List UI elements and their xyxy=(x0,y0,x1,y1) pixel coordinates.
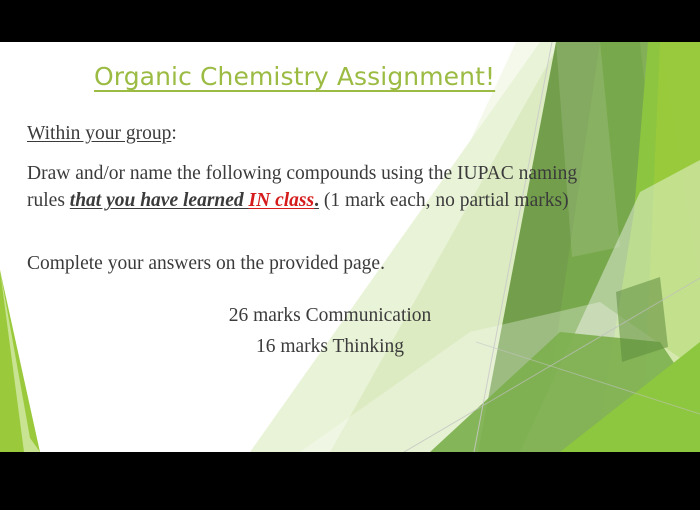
instruction-emphasis: that you have learned xyxy=(70,190,249,211)
instruction-line-2: rules that you have learned IN class. (1… xyxy=(27,187,700,214)
instruction-emphasis-red: IN class xyxy=(249,190,315,211)
letterbox-bottom xyxy=(0,452,700,510)
screenshot-root: Organic Chemistry Assignment! Within you… xyxy=(0,0,700,510)
marks-communication: 26 marks Communication xyxy=(0,300,660,331)
complete-answers-line: Complete your answers on the provided pa… xyxy=(27,250,700,277)
slide-content: Organic Chemistry Assignment! Within you… xyxy=(0,42,700,452)
instruction-line-1: Draw and/or name the following compounds… xyxy=(27,160,700,187)
page-title: Organic Chemistry Assignment! xyxy=(94,62,495,91)
instruction-line2-suffix: (1 mark each, no partial marks) xyxy=(319,190,569,211)
instruction-line2-prefix: rules xyxy=(27,190,70,211)
presentation-slide: Organic Chemistry Assignment! Within you… xyxy=(0,42,700,452)
intro-colon: : xyxy=(171,123,176,144)
intro-label: Within your group xyxy=(27,123,171,144)
letterbox-top xyxy=(0,0,700,42)
slide-body: Within your group: Draw and/or name the … xyxy=(27,120,700,277)
marks-thinking: 16 marks Thinking xyxy=(0,331,660,362)
marks-breakdown: 26 marks Communication 16 marks Thinking xyxy=(0,300,660,362)
intro-line: Within your group: xyxy=(27,120,700,147)
